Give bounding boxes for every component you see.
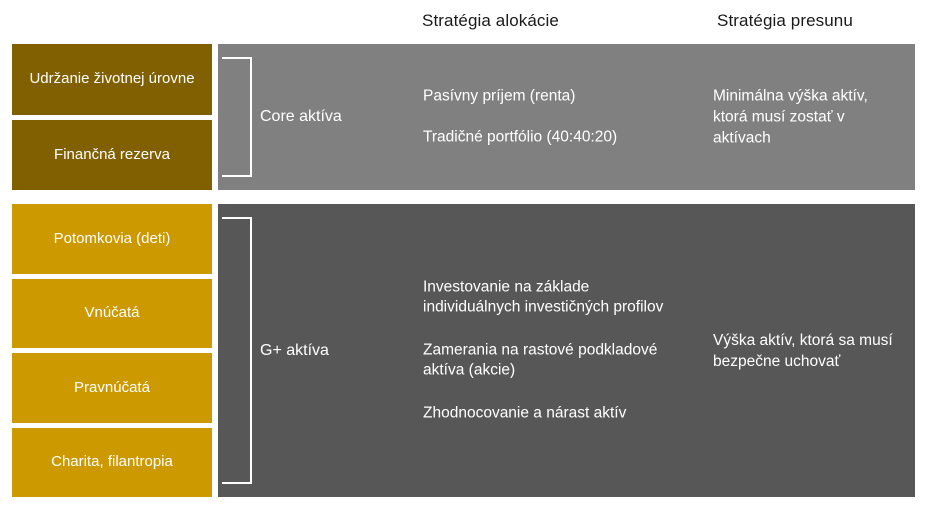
label-box-pravnucata: Pravnúčatá [12, 353, 212, 423]
gplus-assets-panel: G+ aktíva Investovanie na základe indivi… [218, 204, 915, 497]
gplus-transfer-strategy-text: Výška aktív, ktorá sa musí bezpečne ucho… [713, 329, 898, 371]
column-header-allocation-strategy: Stratégia alokácie [422, 11, 559, 31]
label-box-potomkovia-deti: Potomkovia (deti) [12, 204, 212, 274]
core-asset-label-stack: Udržanie životnej úrovne Finančná rezerv… [12, 44, 212, 190]
core-assets-panel: Core aktíva Pasívny príjem (renta) Tradi… [218, 44, 915, 190]
allocation-item: Investovanie na základe individuálnych i… [423, 277, 688, 318]
group-name-gplus-aktiva: G+ aktíva [260, 342, 329, 360]
allocation-item: Zhodnocovanie a nárast aktív [423, 403, 688, 424]
bracket-icon [222, 217, 252, 484]
label-box-vnucata: Vnúčatá [12, 279, 212, 349]
label-box-udrzanie-zivotnej-urovne: Udržanie životnej úrovne [12, 44, 212, 115]
core-transfer-strategy-text: Minimálna výška aktív, ktorá musí zostať… [713, 85, 898, 148]
bracket-icon [222, 57, 252, 177]
gplus-allocation-strategy-list: Investovanie na základe individuálnych i… [423, 277, 688, 424]
label-box-charita-filantropia: Charita, filantropia [12, 428, 212, 498]
gplus-asset-label-stack: Potomkovia (deti) Vnúčatá Pravnúčatá Cha… [12, 204, 212, 497]
allocation-item: Zamerania na rastové podkladové aktíva (… [423, 340, 688, 381]
column-header-transfer-strategy: Stratégia presunu [717, 11, 853, 31]
label-box-financna-rezerva: Finančná rezerva [12, 120, 212, 191]
group-name-core-aktiva: Core aktíva [260, 108, 342, 126]
section-gplus-assets: Potomkovia (deti) Vnúčatá Pravnúčatá Cha… [0, 204, 926, 497]
allocation-item: Pasívny príjem (renta) [423, 86, 688, 107]
allocation-item: Tradičné portfólio (40:40:20) [423, 127, 688, 148]
section-core-assets: Udržanie životnej úrovne Finančná rezerv… [0, 44, 926, 190]
core-allocation-strategy-list: Pasívny príjem (renta) Tradičné portfóli… [423, 86, 688, 147]
